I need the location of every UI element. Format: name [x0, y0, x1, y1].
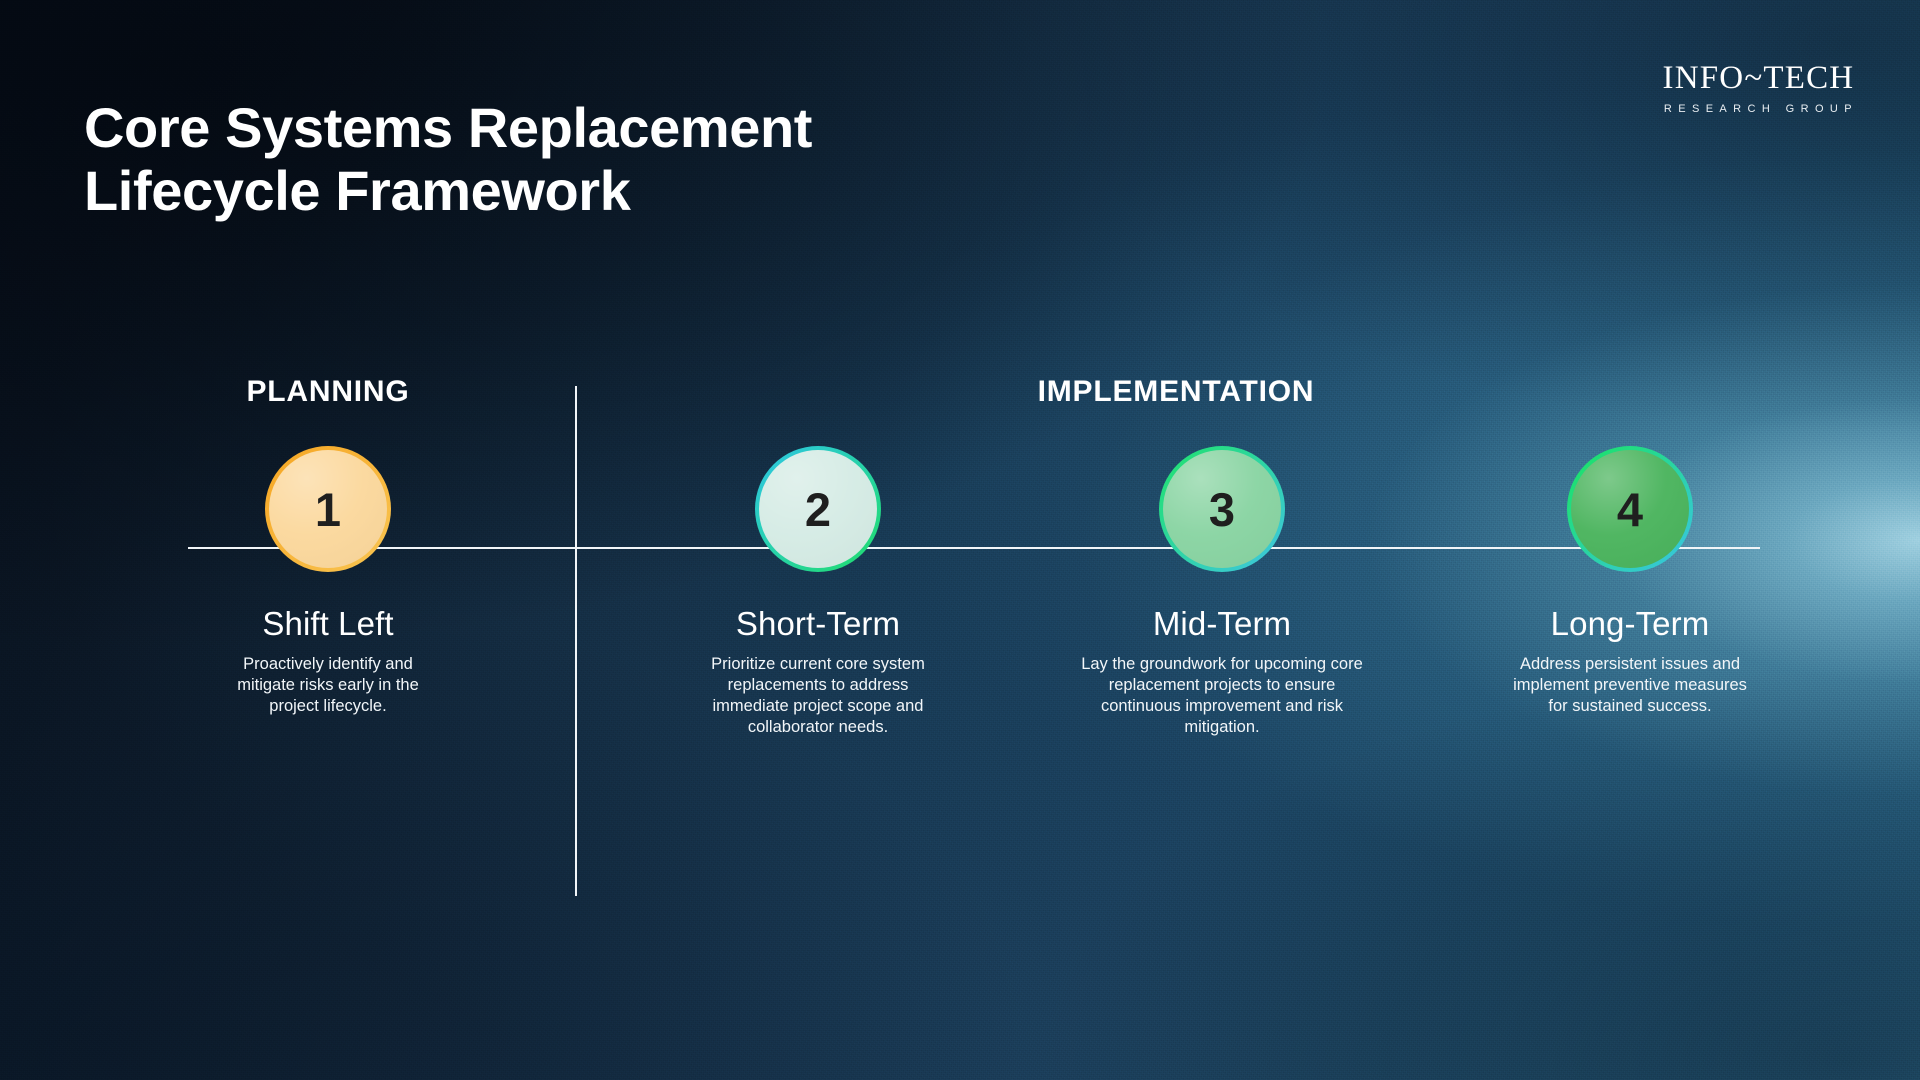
step-2[interactable]: 2 Short-Term Prioritize current core sys… [668, 450, 968, 738]
infographic-slide: Core Systems Replacement Lifecycle Frame… [0, 0, 1920, 1080]
step-4-description: Address persistent issues and implement … [1506, 654, 1754, 717]
step-4-number: 4 [1617, 486, 1643, 533]
logo-tagline: RESEARCH GROUP [1659, 104, 1858, 115]
phase-header-implementation: IMPLEMENTATION [900, 375, 1452, 409]
step-1-description: Proactively identify and mitigate risks … [212, 654, 444, 717]
step-3[interactable]: 3 Mid-Term Lay the groundwork for upcomi… [1072, 450, 1372, 738]
step-1-title: Shift Left [178, 606, 478, 642]
step-4-title: Long-Term [1480, 606, 1780, 642]
step-1-number: 1 [315, 486, 341, 533]
step-1-circle[interactable]: 1 [269, 450, 387, 568]
step-2-title: Short-Term [668, 606, 968, 642]
step-4-circle[interactable]: 4 [1571, 450, 1689, 568]
logo-wordmark: INFO~TECH [1659, 62, 1858, 95]
step-3-description: Lay the groundwork for upcoming core rep… [1072, 654, 1372, 738]
page-title: Core Systems Replacement Lifecycle Frame… [84, 96, 1084, 224]
step-2-circle[interactable]: 2 [759, 450, 877, 568]
phase-header-planning: PLANNING [204, 375, 452, 409]
brand-logo: INFO~TECH RESEARCH GROUP [1659, 62, 1858, 115]
step-2-description: Prioritize current core system replaceme… [709, 654, 927, 738]
step-1[interactable]: 1 Shift Left Proactively identify and mi… [178, 450, 478, 717]
step-4[interactable]: 4 Long-Term Address persistent issues an… [1480, 450, 1780, 717]
step-3-title: Mid-Term [1072, 606, 1372, 642]
step-3-circle[interactable]: 3 [1163, 450, 1281, 568]
step-2-number: 2 [805, 486, 831, 533]
phase-divider-line [575, 386, 577, 896]
step-3-number: 3 [1209, 486, 1235, 533]
